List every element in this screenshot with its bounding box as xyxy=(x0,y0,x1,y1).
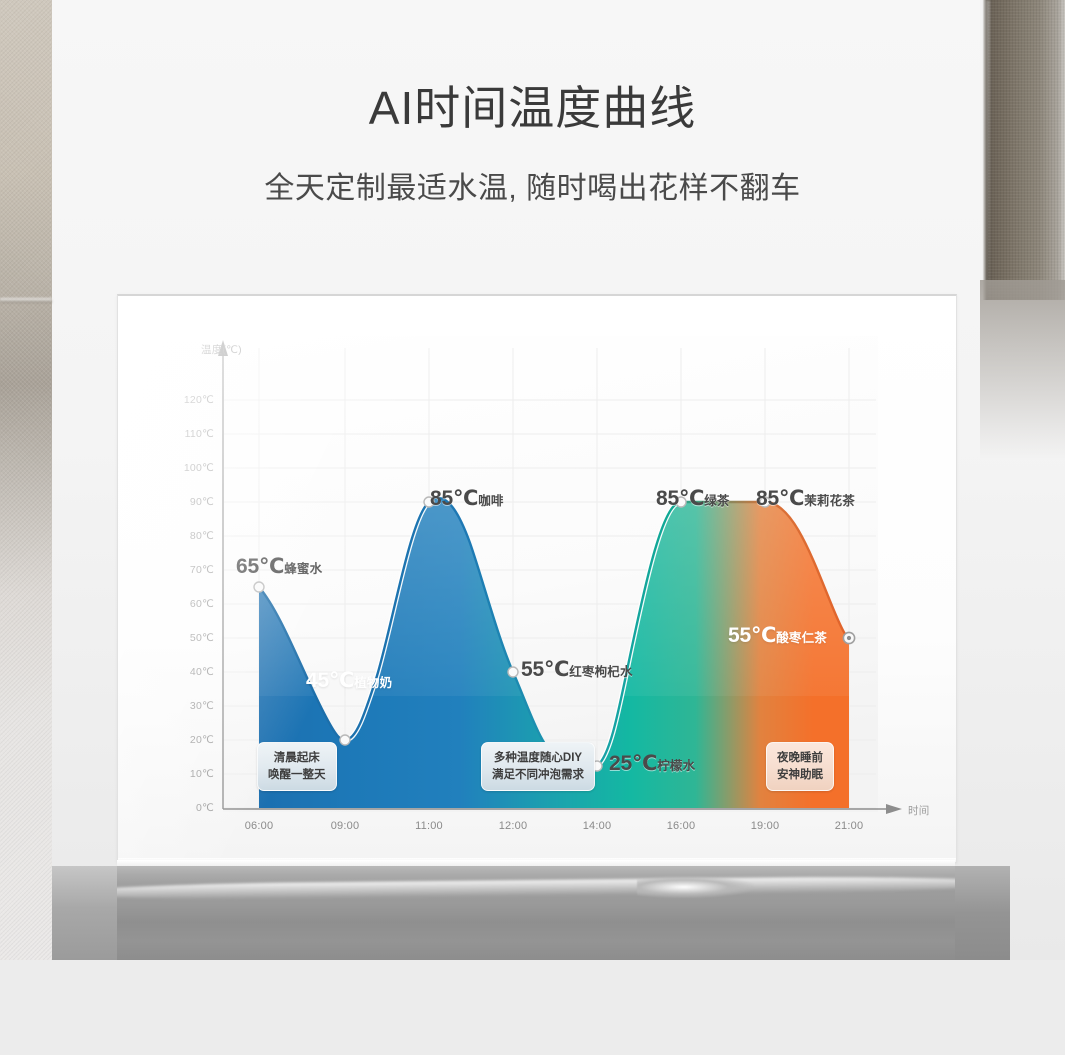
x-tick-1900: 19:00 xyxy=(735,820,795,832)
annotation-midday-line1: 多种温度随心DIY xyxy=(492,750,584,767)
annotation-badge-morning[interactable]: 清晨起床 唤醒一整天 xyxy=(257,742,337,791)
annotation-morning-line1: 清晨起床 xyxy=(268,750,326,767)
x-tick-1200: 12:00 xyxy=(483,820,543,832)
temperature-curve-chart: 温度(℃) 时间 0℃ 10℃ 20℃ 30℃ 40℃ 50℃ 60℃ 70℃ … xyxy=(118,296,956,862)
x-tick-2100: 21:00 xyxy=(819,820,879,832)
point-value-jasmine-tea: 85℃ xyxy=(756,487,804,510)
y-tick-10: 10℃ xyxy=(168,768,214,780)
point-name-coffee: 咖啡 xyxy=(478,494,503,508)
y-tick-110: 110℃ xyxy=(168,428,214,440)
page-title: AI时间温度曲线 xyxy=(0,82,1065,135)
x-tick-1100: 11:00 xyxy=(399,820,459,832)
point-label-jujube-wolfberry: 55℃红枣枸杞水 xyxy=(521,657,633,682)
y-tick-20: 20℃ xyxy=(168,734,214,746)
x-tick-1400: 14:00 xyxy=(567,820,627,832)
point-value-jujube-seed-tea: 55℃ xyxy=(728,624,776,647)
y-tick-0: 0℃ xyxy=(168,802,214,814)
point-name-green-tea: 绿茶 xyxy=(704,494,729,508)
page-root: AI时间温度曲线 全天定制最适水温, 随时喝出花样不翻车 xyxy=(0,0,1065,1055)
point-label-green-tea: 85℃绿茶 xyxy=(656,486,730,511)
axis-x-arrow xyxy=(886,804,902,814)
point-name-lemon-water: 柠檬水 xyxy=(657,759,695,773)
x-tick-0900: 09:00 xyxy=(315,820,375,832)
background-texture-right-fade xyxy=(980,280,1065,460)
annotation-night-line1: 夜晚睡前 xyxy=(777,750,823,767)
y-axis-title: 温度(℃) xyxy=(201,342,242,357)
x-tick-1600: 16:00 xyxy=(651,820,711,832)
point-name-plant-milk: 植物奶 xyxy=(354,676,392,690)
point-label-lemon-water: 25℃柠檬水 xyxy=(609,751,695,776)
point-label-jujube-seed-tea: 55℃酸枣仁茶 xyxy=(728,623,827,648)
point-value-honey-water: 65℃ xyxy=(236,555,284,578)
header: AI时间温度曲线 全天定制最适水温, 随时喝出花样不翻车 xyxy=(0,0,1065,207)
annotation-midday-line2: 满足不同冲泡需求 xyxy=(492,767,584,784)
point-label-jasmine-tea: 85℃茉莉花茶 xyxy=(756,486,855,511)
point-value-jujube-wolfberry: 55℃ xyxy=(521,658,569,681)
reflection-right-panel xyxy=(955,866,1010,960)
point-name-honey-water: 蜂蜜水 xyxy=(284,562,322,576)
reflection-left-panel xyxy=(52,866,117,960)
y-tick-100: 100℃ xyxy=(168,462,214,474)
y-tick-60: 60℃ xyxy=(168,598,214,610)
point-value-lemon-water: 25℃ xyxy=(609,752,657,775)
point-name-jasmine-tea: 茉莉花茶 xyxy=(804,494,855,508)
y-tick-90: 90℃ xyxy=(168,496,214,508)
page-subtitle: 全天定制最适水温, 随时喝出花样不翻车 xyxy=(0,171,1065,207)
annotation-badge-midday[interactable]: 多种温度随心DIY 满足不同冲泡需求 xyxy=(481,742,595,791)
point-value-plant-milk: 45℃ xyxy=(306,669,354,692)
point-name-jujube-seed-tea: 酸枣仁茶 xyxy=(776,631,827,645)
x-tick-0600: 06:00 xyxy=(229,820,289,832)
y-tick-40: 40℃ xyxy=(168,666,214,678)
point-name-jujube-wolfberry: 红枣枸杞水 xyxy=(569,665,633,679)
annotation-morning-line2: 唤醒一整天 xyxy=(268,767,326,784)
chart-card: 温度(℃) 时间 0℃ 10℃ 20℃ 30℃ 40℃ 50℃ 60℃ 70℃ … xyxy=(117,294,957,863)
point-label-coffee: 85℃咖啡 xyxy=(430,486,504,511)
point-label-honey-water: 65℃蜂蜜水 xyxy=(236,554,322,579)
annotation-night-line2: 安神助眠 xyxy=(777,767,823,784)
y-tick-120: 120℃ xyxy=(168,394,214,406)
point-value-green-tea: 85℃ xyxy=(656,487,704,510)
y-tick-70: 70℃ xyxy=(168,564,214,576)
point-value-coffee: 85℃ xyxy=(430,487,478,510)
y-tick-80: 80℃ xyxy=(168,530,214,542)
y-tick-50: 50℃ xyxy=(168,632,214,644)
annotation-badge-night[interactable]: 夜晚睡前 安神助眠 xyxy=(766,742,834,791)
y-tick-30: 30℃ xyxy=(168,700,214,712)
point-label-plant-milk: 45℃植物奶 xyxy=(306,668,392,693)
x-axis-title: 时间 xyxy=(908,803,929,818)
reflection-surface xyxy=(117,866,955,960)
